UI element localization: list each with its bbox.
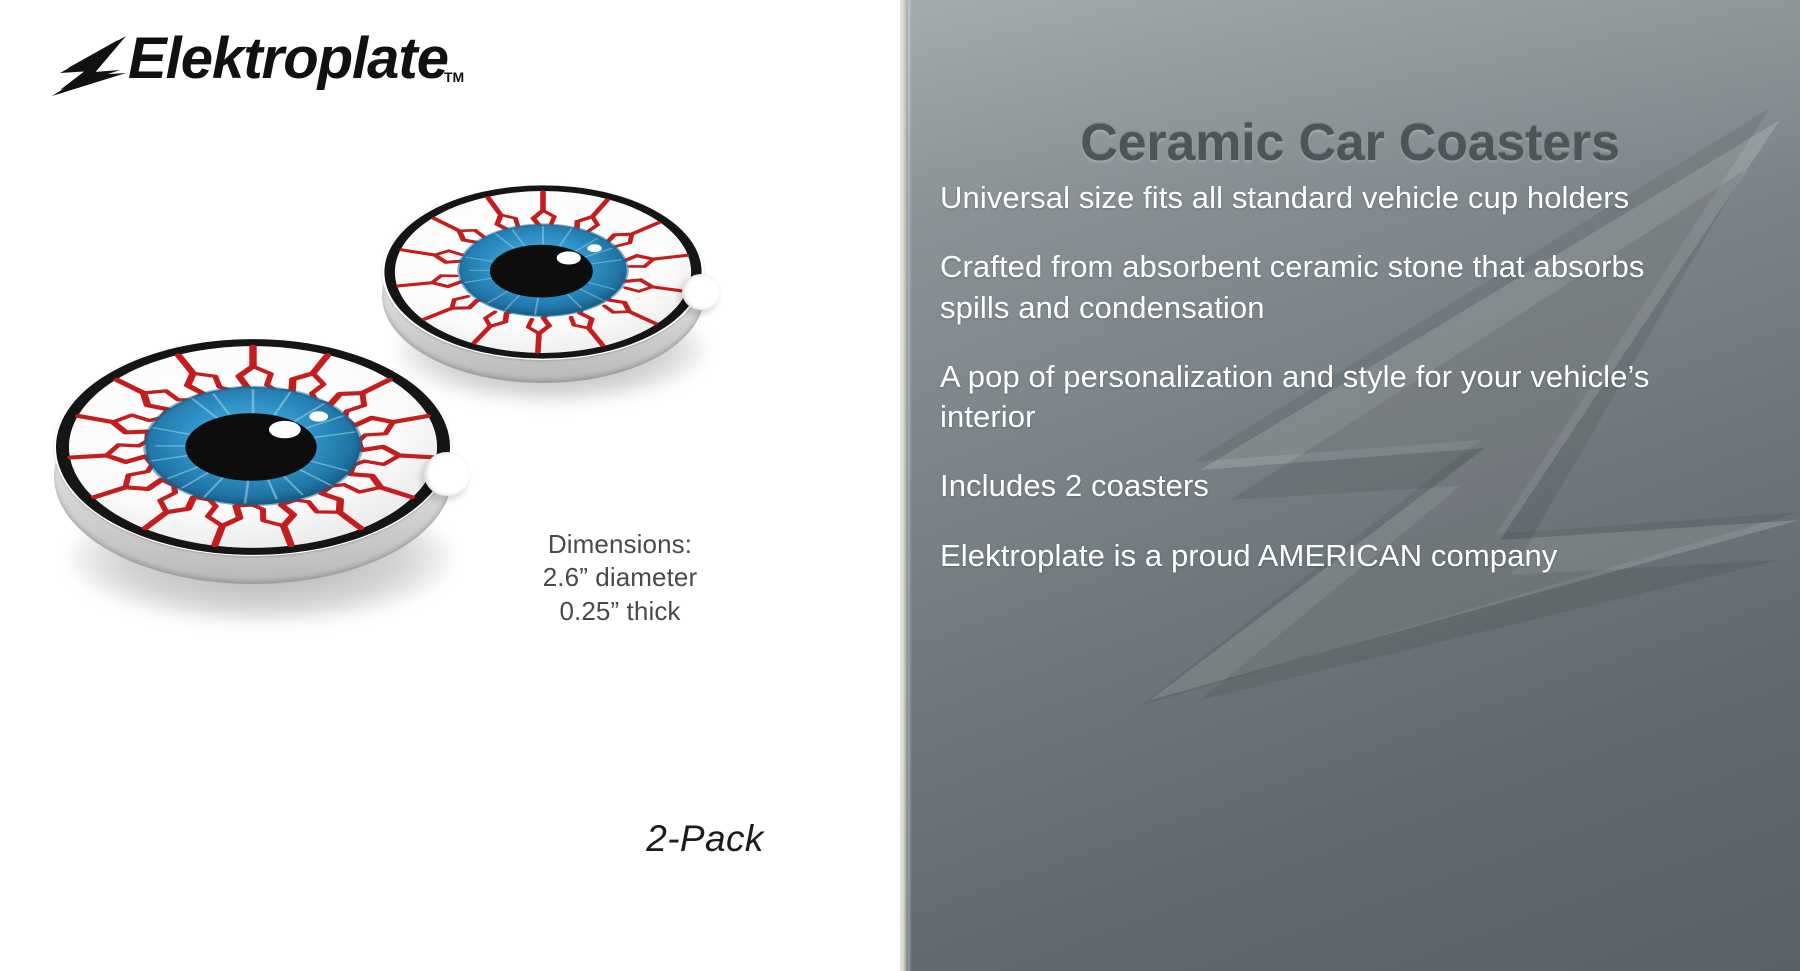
feature-item: A pop of personalization and style for y… <box>940 357 1700 438</box>
feature-panel: Ceramic Car Coasters Universal size fits… <box>900 0 1800 971</box>
coaster-front-face <box>54 338 452 556</box>
dimensions-thickness: 0.25” thick <box>480 595 760 628</box>
pack-label: 2-Pack <box>555 818 855 860</box>
feature-item: Elektroplate is a proud AMERICAN company <box>940 536 1700 576</box>
dimensions-block: Dimensions: 2.6” diameter 0.25” thick <box>480 528 760 628</box>
feature-list: Universal size fits all standard vehicle… <box>940 178 1770 576</box>
product-image-canvas: Elektroplate TM <box>0 0 1800 971</box>
brand-logo: Elektroplate TM <box>30 18 500 118</box>
svg-text:TM: TM <box>444 69 464 85</box>
feature-item: Includes 2 coasters <box>940 466 1700 506</box>
coaster-back-notch <box>682 274 720 310</box>
svg-text:Elektroplate: Elektroplate <box>128 26 448 91</box>
feature-item: Crafted from absorbent ceramic stone tha… <box>940 247 1700 328</box>
feature-item: Universal size fits all standard vehicle… <box>940 178 1700 218</box>
lightning-bolt-icon <box>52 36 126 96</box>
dimensions-label: Dimensions: <box>480 528 760 561</box>
coaster-front <box>48 330 468 630</box>
dimensions-diameter: 2.6” diameter <box>480 561 760 594</box>
product-photo-panel: Elektroplate TM <box>0 0 900 971</box>
page-title: Ceramic Car Coasters <box>900 113 1800 173</box>
coaster-front-notch <box>424 452 470 496</box>
